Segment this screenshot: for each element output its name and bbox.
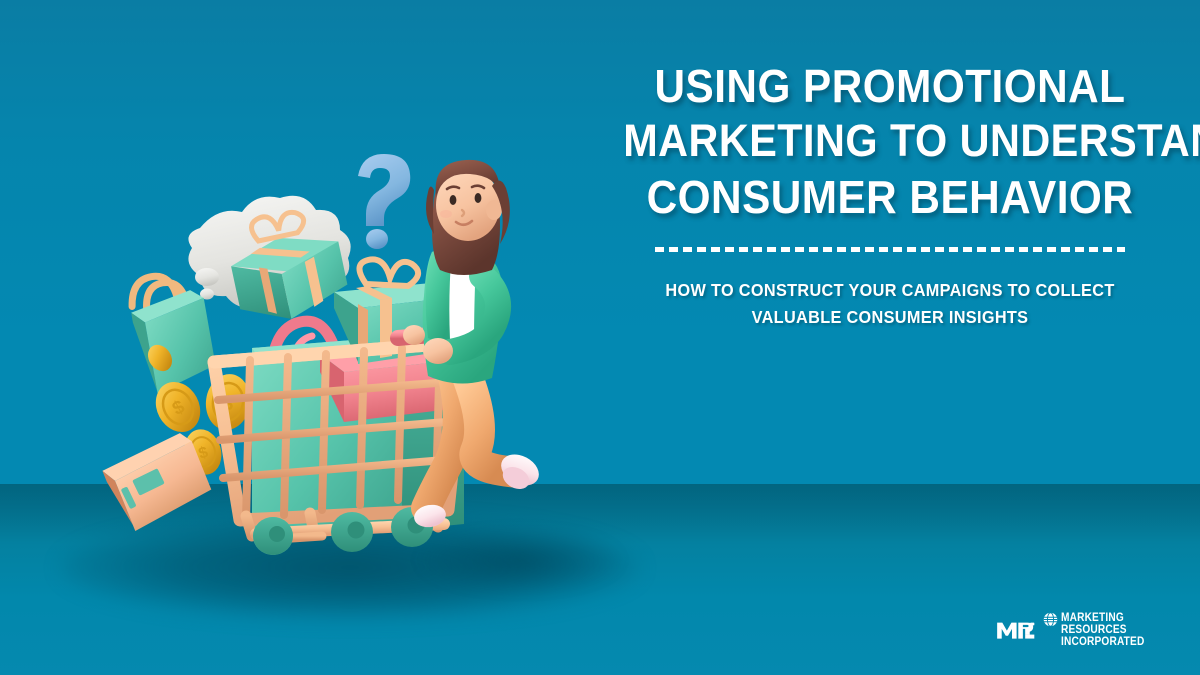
headline-line-2: MARKETING TO UNDERSTAND	[623, 114, 1157, 169]
logo-line-marketing: MARKETING	[1061, 612, 1144, 624]
logo-text-block: MARKETING RESOURCES INCORPORATED	[1043, 612, 1156, 649]
woman-shoe	[496, 448, 544, 493]
illustration-svg: $ $ $	[0, 0, 620, 675]
brand-logo: MARKETING RESOURCES INCORPORATED	[996, 606, 1156, 654]
logo-line-resources: RESOURCES	[1061, 624, 1144, 636]
page-subtitle: HOW TO CONSTRUCT YOUR CAMPAIGNS TO COLLE…	[620, 277, 1159, 331]
slide-canvas: $ $ $	[0, 0, 1200, 675]
subtitle-line-2: VALUABLE CONSUMER INSIGHTS	[620, 304, 1159, 331]
logo-wordmark: MARKETING RESOURCES INCORPORATED	[1061, 612, 1156, 649]
text-panel: USING PROMOTIONAL MARKETING TO UNDERSTAN…	[600, 58, 1180, 331]
dashed-divider	[655, 247, 1125, 252]
headline-line-1: USING PROMOTIONAL	[623, 58, 1157, 114]
headline-line-3: CONSUMER BEHAVIOR	[623, 169, 1157, 225]
cart-wheel	[253, 517, 293, 555]
page-title: USING PROMOTIONAL MARKETING TO UNDERSTAN…	[623, 58, 1157, 225]
question-mark-icon	[358, 154, 410, 249]
hero-illustration: $ $ $	[0, 0, 620, 675]
logo-mri-mark	[996, 613, 1037, 647]
logo-line-incorporated: INCORPORATED	[1061, 636, 1144, 648]
globe-icon	[1043, 612, 1058, 627]
subtitle-line-1: HOW TO CONSTRUCT YOUR CAMPAIGNS TO COLLE…	[620, 277, 1159, 304]
cart-wheel	[331, 512, 373, 552]
